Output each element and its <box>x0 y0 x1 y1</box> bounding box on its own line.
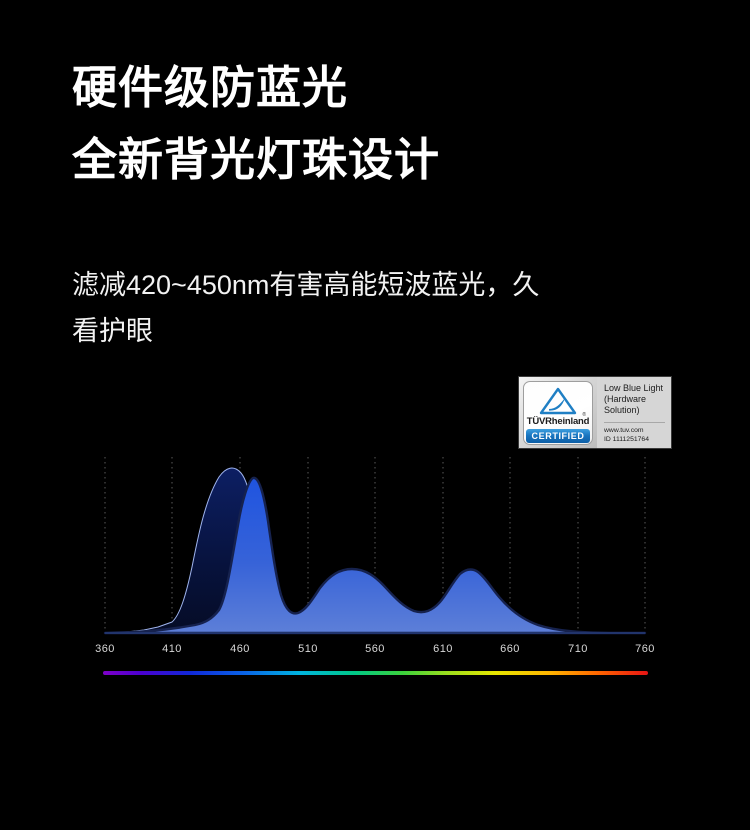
tuv-triangle-icon <box>538 387 578 415</box>
x-tick-label: 360 <box>95 643 115 655</box>
x-tick-label: 610 <box>433 643 453 655</box>
subheading-line-2: 看护眼 <box>72 308 682 354</box>
subheading-line-1: 滤减420~450nm有害高能短波蓝光，久 <box>72 262 682 308</box>
headline-line-1: 硬件级防蓝光 <box>72 52 692 124</box>
subheading-block: 滤减420~450nm有害高能短波蓝光，久 看护眼 <box>72 262 682 354</box>
x-tick-label: 410 <box>162 643 182 655</box>
tuv-claim-line-3: Solution) <box>604 405 665 416</box>
chart-x-axis-labels: 360 410 460 510 560 610 660 710 760 <box>0 643 750 661</box>
tuv-logo-panel: TÜVRheinland ® CERTIFIED <box>519 377 597 448</box>
tuv-certified-label: CERTIFIED <box>526 429 590 443</box>
promo-page: 硬件级防蓝光 全新背光灯珠设计 滤减420~450nm有害高能短波蓝光，久 看护… <box>0 0 750 830</box>
tuv-claim-line-2: (Hardware <box>604 394 665 405</box>
tuv-claim-text: Low Blue Light (Hardware Solution) <box>604 383 665 416</box>
tuv-logo-wordmark: TÜVRheinland <box>527 416 590 427</box>
tuv-claim-panel: Low Blue Light (Hardware Solution) www.t… <box>597 377 671 448</box>
x-tick-label: 510 <box>298 643 318 655</box>
headline-block: 硬件级防蓝光 全新背光灯珠设计 <box>72 52 692 196</box>
tuv-claim-line-1: Low Blue Light <box>604 383 665 394</box>
x-tick-label: 710 <box>568 643 588 655</box>
visible-spectrum-bar <box>103 671 648 675</box>
x-tick-label: 660 <box>500 643 520 655</box>
tuv-footer: www.tuv.com ID 1111251764 <box>604 422 665 444</box>
headline-line-2: 全新背光灯珠设计 <box>72 124 692 196</box>
registered-mark-icon: ® <box>582 412 586 418</box>
spectrum-chart: 360 410 460 510 560 610 660 710 760 <box>0 455 750 695</box>
tuv-certificate-id: ID 1111251764 <box>604 435 665 444</box>
x-tick-label: 460 <box>230 643 250 655</box>
tuv-logo-inner: TÜVRheinland ® CERTIFIED <box>523 381 593 445</box>
tuv-website: www.tuv.com <box>604 426 665 435</box>
x-tick-label: 760 <box>635 643 655 655</box>
tuv-certification-badge: TÜVRheinland ® CERTIFIED Low Blue Light … <box>519 377 671 448</box>
x-tick-label: 560 <box>365 643 385 655</box>
